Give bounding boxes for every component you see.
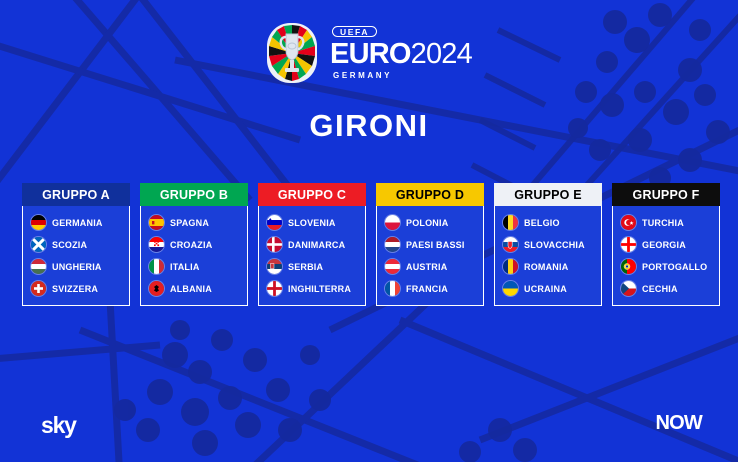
- event-name: EURO: [330, 38, 411, 70]
- flag-slovakia-icon: [503, 237, 518, 252]
- team-row: DANIMARCA: [267, 237, 365, 252]
- group-card: GRUPPO FTURCHIAGEORGIAPORTOGALLOCECHIA: [612, 183, 720, 306]
- groups-container: GRUPPO AGERMANIASCOZIAUNGHERIASVIZZERAGR…: [22, 183, 720, 306]
- group-header: GRUPPO D: [376, 183, 484, 206]
- team-row: SLOVACCHIA: [503, 237, 601, 252]
- sky-logo: sky: [41, 412, 76, 439]
- group-team-list: TURCHIAGEORGIAPORTOGALLOCECHIA: [612, 206, 720, 306]
- team-name: AUSTRIA: [406, 262, 447, 272]
- team-name: ALBANIA: [170, 284, 212, 294]
- event-wordmark: EURO2024: [330, 40, 472, 69]
- flag-italy-icon: [149, 259, 164, 274]
- group-header: GRUPPO F: [612, 183, 720, 206]
- team-row: GERMANIA: [31, 215, 129, 230]
- flag-serbia-icon: [267, 259, 282, 274]
- team-name: TURCHIA: [642, 218, 684, 228]
- flag-romania-icon: [503, 259, 518, 274]
- team-name: UNGHERIA: [52, 262, 102, 272]
- flag-hungary-icon: [31, 259, 46, 274]
- flag-georgia-icon: [621, 237, 636, 252]
- group-team-list: GERMANIASCOZIAUNGHERIASVIZZERA: [22, 206, 130, 306]
- team-name: ITALIA: [170, 262, 200, 272]
- flag-belgium-icon: [503, 215, 518, 230]
- flag-poland-icon: [385, 215, 400, 230]
- team-row: GEORGIA: [621, 237, 719, 252]
- team-name: PAESI BASSI: [406, 240, 465, 250]
- flag-denmark-icon: [267, 237, 282, 252]
- team-row: CECHIA: [621, 281, 719, 296]
- group-card: GRUPPO EBELGIOSLOVACCHIAROMANIAUCRAINA: [494, 183, 602, 306]
- team-name: PORTOGALLO: [642, 262, 707, 272]
- flag-netherlands-icon: [385, 237, 400, 252]
- group-header: GRUPPO C: [258, 183, 366, 206]
- team-row: ITALIA: [149, 259, 247, 274]
- team-row: ALBANIA: [149, 281, 247, 296]
- team-name: GEORGIA: [642, 240, 686, 250]
- group-team-list: BELGIOSLOVACCHIAROMANIAUCRAINA: [494, 206, 602, 306]
- group-header: GRUPPO A: [22, 183, 130, 206]
- team-name: POLONIA: [406, 218, 448, 228]
- team-row: ROMANIA: [503, 259, 601, 274]
- event-year: 2024: [411, 38, 472, 70]
- group-card: GRUPPO CSLOVENIADANIMARCASERBIAINGHILTER…: [258, 183, 366, 306]
- flag-england-icon: [267, 281, 282, 296]
- team-name: SLOVACCHIA: [524, 240, 585, 250]
- flag-ukraine-icon: [503, 281, 518, 296]
- flag-portugal-icon: [621, 259, 636, 274]
- team-row: INGHILTERRA: [267, 281, 365, 296]
- team-row: SCOZIA: [31, 237, 129, 252]
- group-team-list: POLONIAPAESI BASSIAUSTRIAFRANCIA: [376, 206, 484, 306]
- team-row: SPAGNA: [149, 215, 247, 230]
- group-card: GRUPPO AGERMANIASCOZIAUNGHERIASVIZZERA: [22, 183, 130, 306]
- page-title: GIRONI: [0, 108, 738, 144]
- team-name: CROAZIA: [170, 240, 212, 250]
- team-name: ROMANIA: [524, 262, 568, 272]
- group-team-list: SLOVENIADANIMARCASERBIAINGHILTERRA: [258, 206, 366, 306]
- flag-spain-icon: [149, 215, 164, 230]
- flag-czechia-icon: [621, 281, 636, 296]
- flag-austria-icon: [385, 259, 400, 274]
- team-name: SVIZZERA: [52, 284, 98, 294]
- euro-2024-logo: UEFA EURO2024 GERMANY: [0, 22, 738, 84]
- team-row: PORTOGALLO: [621, 259, 719, 274]
- team-name: FRANCIA: [406, 284, 448, 294]
- flag-slovenia-icon: [267, 215, 282, 230]
- team-row: CROAZIA: [149, 237, 247, 252]
- team-row: UCRAINA: [503, 281, 601, 296]
- group-card: GRUPPO DPOLONIAPAESI BASSIAUSTRIAFRANCIA: [376, 183, 484, 306]
- team-row: SVIZZERA: [31, 281, 129, 296]
- team-name: GERMANIA: [52, 218, 103, 228]
- flag-switzerland-icon: [31, 281, 46, 296]
- flag-scotland-icon: [31, 237, 46, 252]
- group-header: GRUPPO E: [494, 183, 602, 206]
- team-row: TURCHIA: [621, 215, 719, 230]
- team-row: AUSTRIA: [385, 259, 483, 274]
- team-name: SPAGNA: [170, 218, 209, 228]
- group-team-list: SPAGNACROAZIAITALIAALBANIA: [140, 206, 248, 306]
- now-logo: NOW: [656, 412, 702, 435]
- team-row: SLOVENIA: [267, 215, 365, 230]
- host-country-label: GERMANY: [333, 72, 392, 80]
- team-name: DANIMARCA: [288, 240, 345, 250]
- team-name: BELGIO: [524, 218, 560, 228]
- uefa-trophy-icon: [266, 22, 318, 84]
- team-row: SERBIA: [267, 259, 365, 274]
- flag-germany-icon: [31, 215, 46, 230]
- uefa-label: UEFA: [340, 28, 369, 37]
- team-name: INGHILTERRA: [288, 284, 351, 294]
- team-name: UCRAINA: [524, 284, 567, 294]
- team-row: BELGIO: [503, 215, 601, 230]
- team-row: UNGHERIA: [31, 259, 129, 274]
- flag-croatia-icon: [149, 237, 164, 252]
- team-name: SLOVENIA: [288, 218, 336, 228]
- team-name: SCOZIA: [52, 240, 87, 250]
- flag-albania-icon: [149, 281, 164, 296]
- team-name: CECHIA: [642, 284, 678, 294]
- uefa-badge: UEFA: [332, 26, 377, 38]
- team-name: SERBIA: [288, 262, 323, 272]
- team-row: PAESI BASSI: [385, 237, 483, 252]
- team-row: FRANCIA: [385, 281, 483, 296]
- group-card: GRUPPO BSPAGNACROAZIAITALIAALBANIA: [140, 183, 248, 306]
- flag-turkey-icon: [621, 215, 636, 230]
- group-header: GRUPPO B: [140, 183, 248, 206]
- flag-france-icon: [385, 281, 400, 296]
- team-row: POLONIA: [385, 215, 483, 230]
